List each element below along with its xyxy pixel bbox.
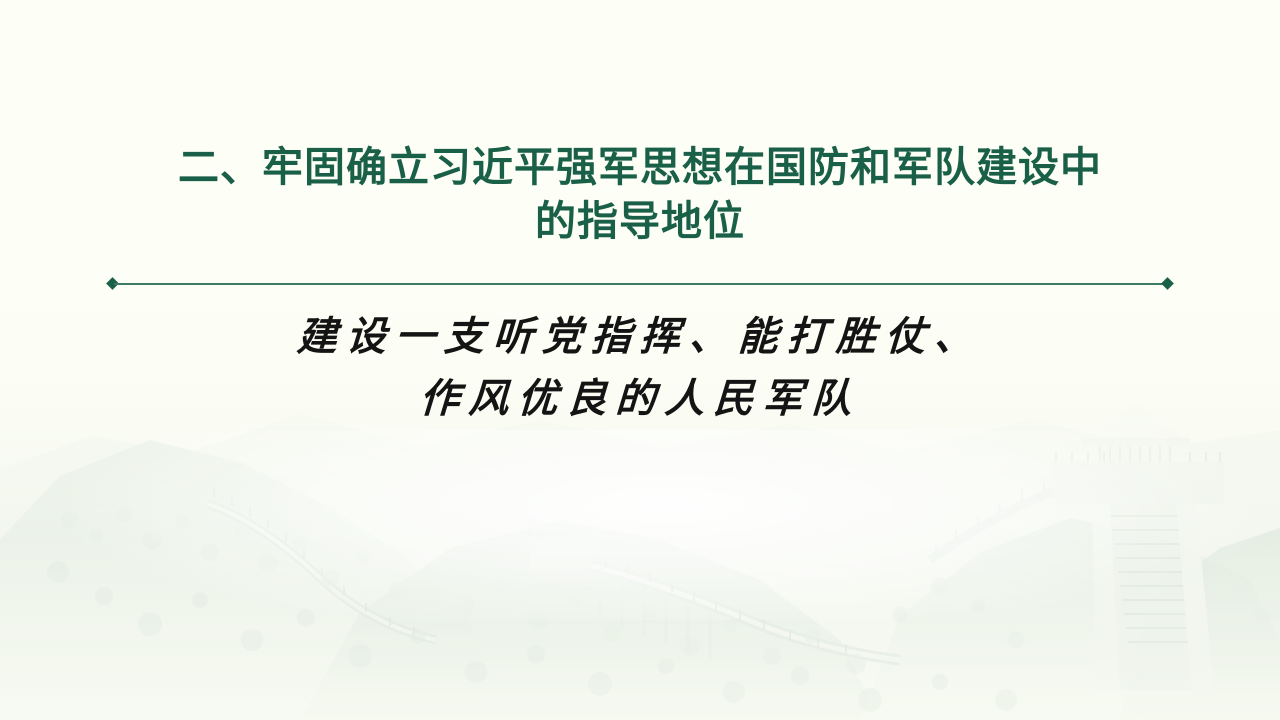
diamond-right-icon: [1161, 277, 1174, 290]
subtitle-line-1: 建设一支听党指挥、能打胜仗、: [0, 306, 1280, 368]
subtitle-line-2: 作风优良的人民军队: [0, 368, 1280, 430]
page-title: 二、牢固确立习近平强军思想在国防和军队建设中 的指导地位: [0, 140, 1280, 248]
divider: [108, 277, 1172, 290]
slide-content: 二、牢固确立习近平强军思想在国防和军队建设中 的指导地位 建设一支听党指挥、能打…: [0, 0, 1280, 720]
divider-rule: [114, 283, 1166, 285]
title-line-2: 的指导地位: [0, 194, 1280, 248]
title-line-1: 二、牢固确立习近平强军思想在国防和军队建设中: [0, 140, 1280, 194]
subtitle: 建设一支听党指挥、能打胜仗、 作风优良的人民军队: [0, 306, 1280, 430]
slide-root: 二、牢固确立习近平强军思想在国防和军队建设中 的指导地位 建设一支听党指挥、能打…: [0, 0, 1280, 720]
